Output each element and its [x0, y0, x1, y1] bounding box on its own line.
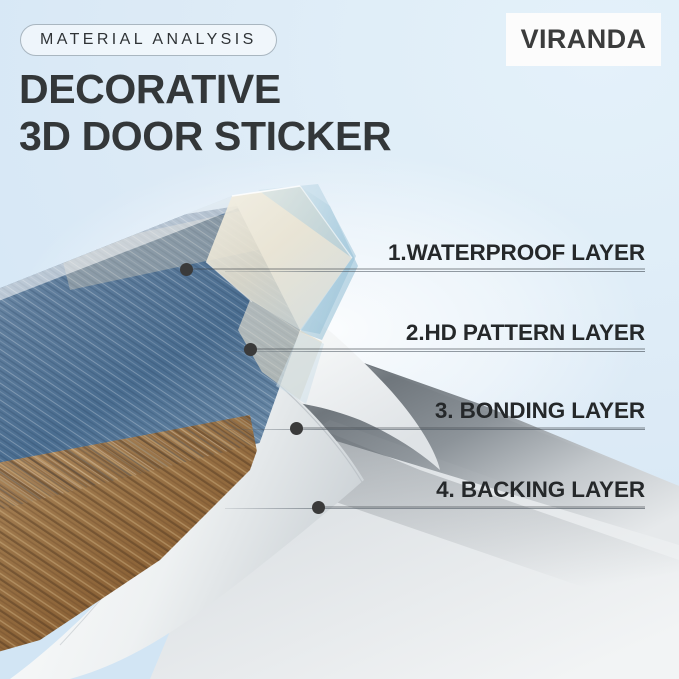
callout-rule-3 [225, 429, 645, 430]
page-title-line-1: DECORATIVE [19, 66, 281, 112]
page-title-line-2: 3D DOOR STICKER [19, 113, 391, 160]
callout-dot-1 [180, 263, 193, 276]
brand-name: VIRANDA [521, 24, 647, 55]
callout-rule-2 [225, 351, 645, 352]
badge-label: MATERIAL ANALYSIS [40, 31, 257, 49]
material-analysis-badge: MATERIAL ANALYSIS [20, 24, 277, 56]
callout-waterproof-layer: 1.WATERPROOF LAYER [225, 240, 645, 272]
infographic-page: MATERIAL ANALYSIS DECORATIVE 3D DOOR STI… [0, 0, 679, 679]
callout-dot-4 [312, 501, 325, 514]
callout-label-1: 1.WATERPROOF LAYER [225, 240, 645, 271]
callout-dot-2 [244, 343, 257, 356]
callout-rule-1 [225, 271, 645, 272]
backing-sheet [150, 392, 679, 679]
callout-label-3: 3. BONDING LAYER [225, 398, 645, 429]
callout-dot-3 [290, 422, 303, 435]
brand-logo: VIRANDA [506, 13, 661, 66]
bonding-sheet [250, 352, 679, 545]
callout-rule-4 [225, 508, 645, 509]
callout-backing-layer: 4. BACKING LAYER [225, 477, 645, 509]
page-title: DECORATIVE 3D DOOR STICKER [19, 66, 391, 160]
callout-hd-pattern-layer: 2.HD PATTERN LAYER [225, 320, 645, 352]
peeled-liner [230, 268, 440, 470]
callout-bonding-layer: 3. BONDING LAYER [225, 398, 645, 430]
callout-label-4: 4. BACKING LAYER [225, 477, 645, 508]
callout-label-2: 2.HD PATTERN LAYER [225, 320, 645, 351]
